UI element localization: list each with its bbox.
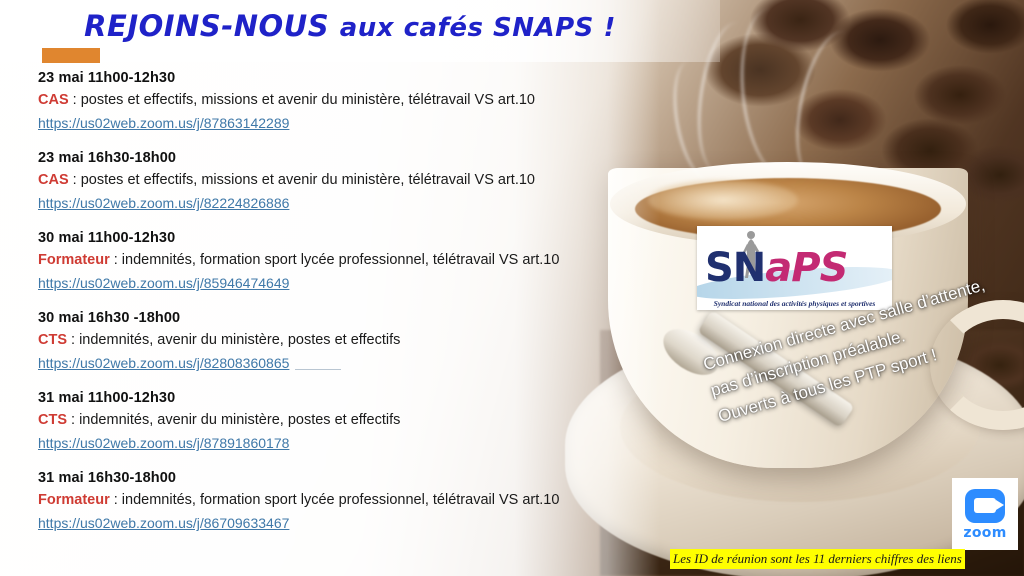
- logo-word-aps: aPS: [765, 245, 847, 291]
- session-topics: : indemnités, formation sport lycée prof…: [110, 492, 560, 508]
- session-category: CAS: [38, 172, 69, 188]
- poster-canvas: REJOINS-NOUS aux cafés SNAPS ! 23 mai 11…: [0, 0, 1024, 576]
- session-zoom-link[interactable]: https://us02web.zoom.us/j/82224826886: [38, 193, 289, 214]
- session-zoom-link[interactable]: https://us02web.zoom.us/j/87891860178: [38, 433, 289, 454]
- session-category: CTS: [38, 412, 67, 428]
- zoom-logo-badge: zoom: [952, 478, 1018, 550]
- session-datetime: 23 mai 16h30-18h00: [38, 148, 638, 168]
- list-item: 23 mai 16h30-18h00 CAS : postes et effec…: [38, 148, 638, 214]
- session-topics: : postes et effectifs, missions et aveni…: [69, 172, 535, 188]
- page-title-part1: REJOINS-NOUS: [84, 9, 340, 43]
- list-item: 23 mai 11h00-12h30 CAS : postes et effec…: [38, 68, 638, 134]
- session-topics: : indemnités, avenir du ministère, poste…: [67, 412, 400, 428]
- session-description: CTS : indemnités, avenir du ministère, p…: [38, 330, 638, 351]
- meeting-id-note: Les ID de réunion sont les 11 derniers c…: [670, 549, 965, 569]
- session-category: Formateur: [38, 252, 110, 268]
- logo-word-sn: SN: [705, 245, 765, 291]
- session-datetime: 31 mai 16h30-18h00: [38, 468, 638, 488]
- page-title: REJOINS-NOUS aux cafés SNAPS !: [0, 9, 700, 43]
- session-topics: : postes et effectifs, missions et aveni…: [69, 92, 535, 108]
- session-datetime: 31 mai 11h00-12h30: [38, 388, 638, 408]
- orange-accent-bar: [42, 48, 100, 63]
- session-datetime: 30 mai 16h30 -18h00: [38, 308, 638, 328]
- list-item: 30 mai 11h00-12h30 Formateur : indemnité…: [38, 228, 638, 294]
- session-description: Formateur : indemnités, formation sport …: [38, 250, 638, 271]
- session-zoom-link[interactable]: https://us02web.zoom.us/j/85946474649: [38, 273, 289, 294]
- session-description: CTS : indemnités, avenir du ministère, p…: [38, 410, 638, 431]
- session-category: CAS: [38, 92, 69, 108]
- session-zoom-link[interactable]: https://us02web.zoom.us/j/87863142289: [38, 113, 289, 134]
- zoom-wordmark: zoom: [963, 526, 1006, 540]
- coffee-crema: [648, 180, 798, 220]
- link-trailing-rule: [295, 369, 341, 370]
- session-topics: : indemnités, formation sport lycée prof…: [110, 252, 560, 268]
- list-item: 31 mai 16h30-18h00 Formateur : indemnité…: [38, 468, 638, 534]
- session-description: CAS : postes et effectifs, missions et a…: [38, 170, 638, 191]
- schedule-list: 23 mai 11h00-12h30 CAS : postes et effec…: [38, 68, 638, 548]
- session-datetime: 30 mai 11h00-12h30: [38, 228, 638, 248]
- session-zoom-link[interactable]: https://us02web.zoom.us/j/86709633467: [38, 513, 289, 534]
- logo-wordmark: SNaPS: [705, 248, 847, 288]
- list-item: 31 mai 11h00-12h30 CTS : indemnités, ave…: [38, 388, 638, 454]
- list-item: 30 mai 16h30 -18h00 CTS : indemnités, av…: [38, 308, 638, 374]
- session-topics: : indemnités, avenir du ministère, poste…: [67, 332, 400, 348]
- session-description: CAS : postes et effectifs, missions et a…: [38, 90, 638, 111]
- session-datetime: 23 mai 11h00-12h30: [38, 68, 638, 88]
- page-title-part2: aux cafés SNAPS !: [340, 13, 616, 43]
- snaps-logo: SNaPS Syndicat national des activités ph…: [697, 226, 892, 310]
- session-category: Formateur: [38, 492, 110, 508]
- session-category: CTS: [38, 332, 67, 348]
- session-zoom-link[interactable]: https://us02web.zoom.us/j/82808360865: [38, 353, 289, 374]
- session-description: Formateur : indemnités, formation sport …: [38, 490, 638, 511]
- video-camera-icon: [965, 489, 1005, 523]
